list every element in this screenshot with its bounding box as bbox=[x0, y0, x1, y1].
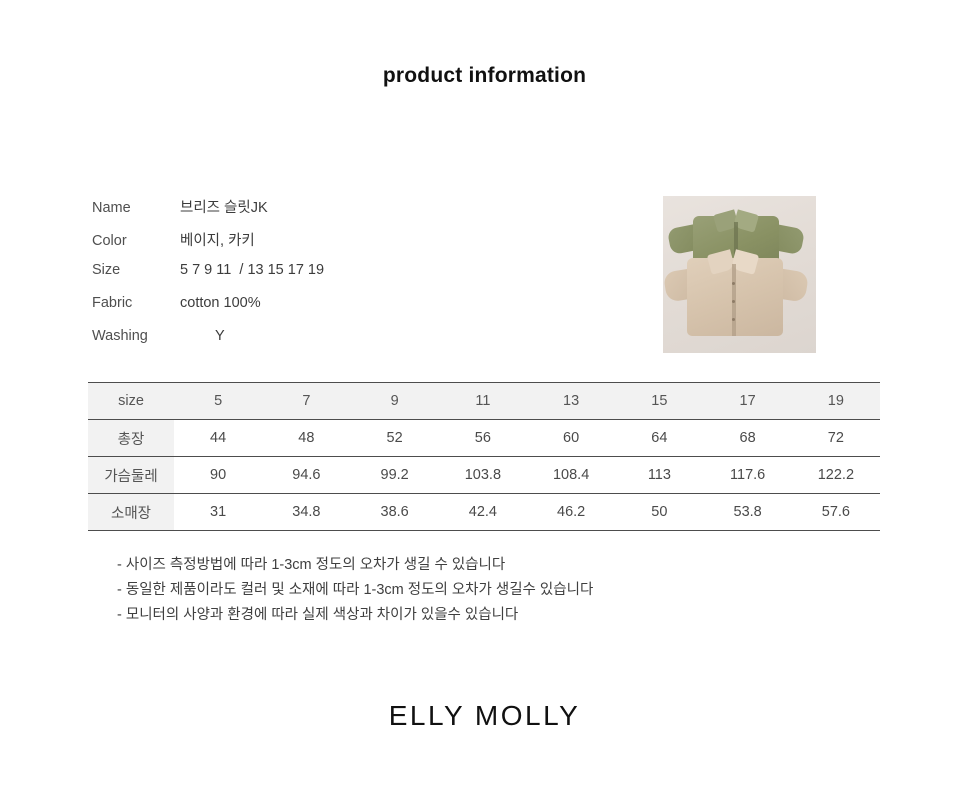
table-header-row: size 5 7 9 11 13 15 17 19 bbox=[88, 383, 880, 420]
table-cell: 117.6 bbox=[704, 457, 792, 494]
size-chart-table: size 5 7 9 11 13 15 17 19 총장 44 48 52 56… bbox=[88, 382, 880, 531]
table-header-cell: 19 bbox=[792, 383, 880, 420]
table-cell: 122.2 bbox=[792, 457, 880, 494]
table-cell: 113 bbox=[615, 457, 703, 494]
product-photo bbox=[663, 196, 816, 353]
table-cell: 50 bbox=[615, 494, 703, 531]
table-cell: 103.8 bbox=[439, 457, 527, 494]
table-header-cell: 15 bbox=[615, 383, 703, 420]
table-cell: 60 bbox=[527, 420, 615, 457]
info-value-name: 브리즈 슬릿JK bbox=[180, 196, 268, 217]
info-label-name: Name bbox=[92, 200, 180, 216]
table-cell: 94.6 bbox=[262, 457, 350, 494]
table-cell: 99.2 bbox=[351, 457, 439, 494]
beige-jacket-button bbox=[732, 282, 735, 285]
table-cell: 38.6 bbox=[351, 494, 439, 531]
beige-jacket-button bbox=[732, 300, 735, 303]
table-cell: 44 bbox=[174, 420, 262, 457]
table-cell: 68 bbox=[704, 420, 792, 457]
table-cell: 90 bbox=[174, 457, 262, 494]
table-row-label: 총장 bbox=[88, 420, 174, 457]
table-header-cell: 17 bbox=[704, 383, 792, 420]
table-cell: 108.4 bbox=[527, 457, 615, 494]
beige-jacket-button bbox=[732, 318, 735, 321]
info-value-size: 5 7 9 11 / 13 15 17 19 bbox=[180, 262, 324, 278]
table-cell: 34.8 bbox=[262, 494, 350, 531]
info-row-washing: Washing Y bbox=[92, 328, 472, 361]
table-header-cell: 5 bbox=[174, 383, 262, 420]
info-row-color: Color 베이지, 카키 bbox=[92, 229, 472, 262]
info-row-name: Name 브리즈 슬릿JK bbox=[92, 196, 472, 229]
table-row: 총장 44 48 52 56 60 64 68 72 bbox=[88, 420, 880, 457]
table-row: 가슴둘레 90 94.6 99.2 103.8 108.4 113 117.6 … bbox=[88, 457, 880, 494]
table-cell: 31 bbox=[174, 494, 262, 531]
info-label-color: Color bbox=[92, 233, 180, 249]
info-label-size: Size bbox=[92, 262, 180, 278]
info-value-fabric: cotton 100% bbox=[180, 295, 261, 311]
table-row-label: 소매장 bbox=[88, 494, 174, 531]
notice-line: - 모니터의 사양과 환경에 따라 실제 색상과 차이가 있을수 있습니다 bbox=[117, 603, 877, 628]
page-title: product information bbox=[0, 64, 969, 88]
table-header-cell: 7 bbox=[262, 383, 350, 420]
table-cell: 56 bbox=[439, 420, 527, 457]
notice-line: - 동일한 제품이라도 컬러 및 소재에 따라 1-3cm 정도의 오차가 생길… bbox=[117, 578, 877, 603]
info-row-size: Size 5 7 9 11 / 13 15 17 19 bbox=[92, 262, 472, 295]
table-header-cell: size bbox=[88, 383, 174, 420]
table-cell: 46.2 bbox=[527, 494, 615, 531]
table-cell: 52 bbox=[351, 420, 439, 457]
table-cell: 53.8 bbox=[704, 494, 792, 531]
table-cell: 42.4 bbox=[439, 494, 527, 531]
table-header-cell: 11 bbox=[439, 383, 527, 420]
table-cell: 48 bbox=[262, 420, 350, 457]
product-info-block: Name 브리즈 슬릿JK Color 베이지, 카키 Size 5 7 9 1… bbox=[92, 196, 472, 361]
info-row-fabric: Fabric cotton 100% bbox=[92, 295, 472, 328]
table-cell: 64 bbox=[615, 420, 703, 457]
notice-line: - 사이즈 측정방법에 따라 1-3cm 정도의 오차가 생길 수 있습니다 bbox=[117, 553, 877, 578]
brand-logo: ELLY MOLLY bbox=[0, 700, 969, 732]
table-cell: 72 bbox=[792, 420, 880, 457]
info-value-color: 베이지, 카키 bbox=[180, 229, 255, 250]
table-cell: 57.6 bbox=[792, 494, 880, 531]
table-row-label: 가슴둘레 bbox=[88, 457, 174, 494]
info-label-fabric: Fabric bbox=[92, 295, 180, 311]
table-row: 소매장 31 34.8 38.6 42.4 46.2 50 53.8 57.6 bbox=[88, 494, 880, 531]
table-header-cell: 13 bbox=[527, 383, 615, 420]
info-value-washing: Y bbox=[180, 328, 225, 344]
table-header-cell: 9 bbox=[351, 383, 439, 420]
info-label-washing: Washing bbox=[92, 328, 180, 344]
notice-list: - 사이즈 측정방법에 따라 1-3cm 정도의 오차가 생길 수 있습니다 -… bbox=[117, 553, 877, 628]
